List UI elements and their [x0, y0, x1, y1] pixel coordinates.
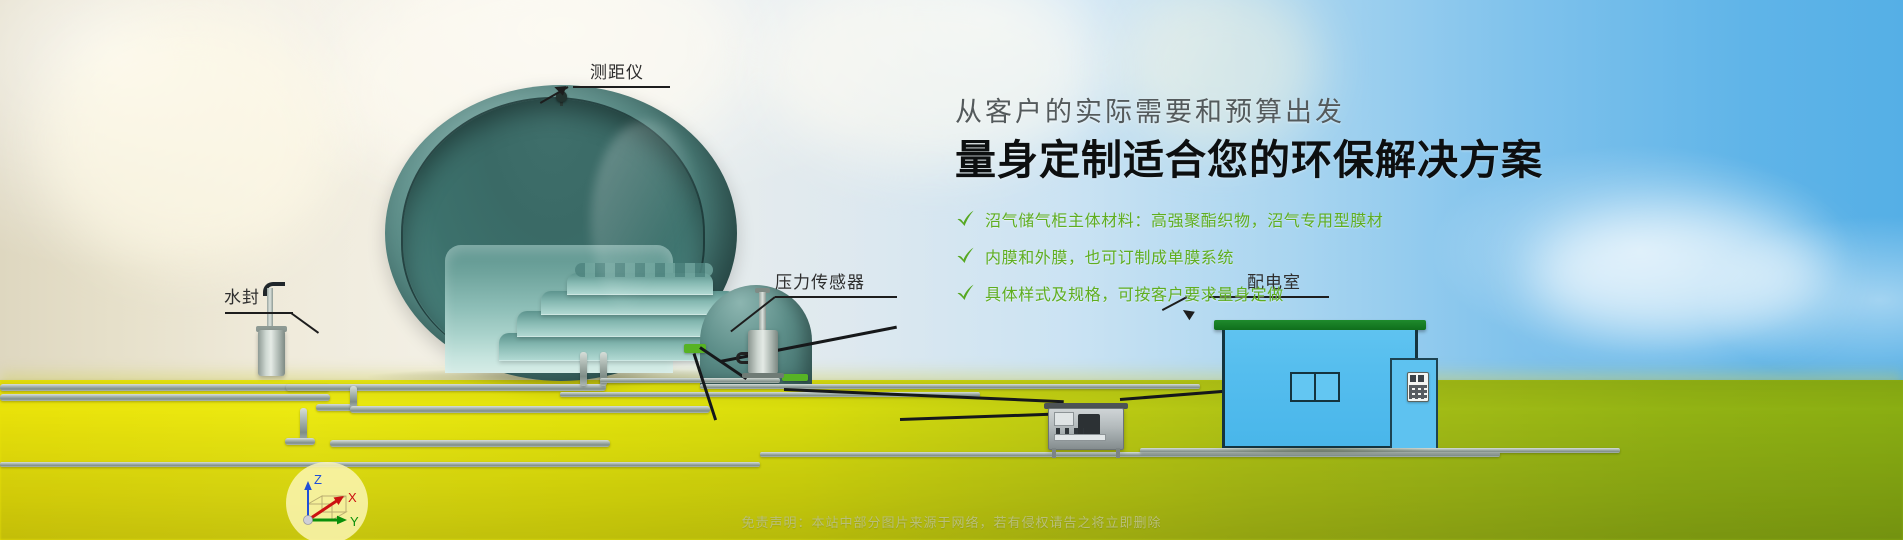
building-roof: [1214, 320, 1426, 330]
hero-banner: 测距仪 水封 压力传感器: [0, 0, 1903, 540]
headline-title: 量身定制适合您的环保解决方案: [955, 136, 1595, 184]
leader-line-water-seal: [225, 312, 293, 314]
vent-pipe: [580, 352, 587, 386]
water-seal-vessel: [258, 330, 285, 376]
machine-base-plate: [1054, 434, 1106, 441]
pressure-sensor-valve: [736, 352, 748, 364]
disclaimer-text: 免责声明：本站中部分图片来源于网络，若有侵权请告之将立即删除: [0, 512, 1903, 531]
control-panel-display: [1410, 375, 1426, 382]
axis-label-x: X: [348, 490, 357, 505]
pipe-run: [0, 394, 330, 401]
check-icon: [955, 209, 975, 229]
headline-subtitle: 从客户的实际需要和预算出发: [955, 96, 1595, 128]
list-item: 具体样式及规格，可按客户要求量身定做: [955, 281, 1595, 305]
gas-holder-dome: [385, 85, 745, 385]
pressure-sensor-base: [742, 373, 784, 378]
water-seal-riser: [267, 288, 273, 328]
marketing-copy-block: 从客户的实际需要和预算出发 量身定制适合您的环保解决方案 沼气储气柜主体材料：高…: [955, 96, 1595, 318]
leader-line-rangefinder: [573, 86, 670, 88]
check-icon: [955, 283, 975, 303]
pressure-sensor-riser: [759, 292, 766, 332]
window-mullion: [1314, 372, 1316, 402]
list-item: 内膜和外膜，也可订制成单膜系统: [955, 244, 1595, 268]
pipe-run: [700, 384, 1200, 389]
pipe-fitting: [782, 374, 808, 381]
pipe-drop: [300, 408, 307, 442]
pipe-run: [600, 378, 780, 383]
leader-line-pressure-sensor: [775, 296, 897, 298]
axis-label-z: Z: [314, 472, 322, 487]
machine-leg: [1052, 448, 1056, 458]
feature-bullet-list: 沼气储气柜主体材料：高强聚酯织物，沼气专用型膜材 内膜和外膜，也可订制成单膜系统…: [955, 207, 1595, 305]
machine-leg: [1116, 448, 1120, 458]
label-water-seal: 水封: [224, 283, 260, 308]
label-pressure-sensor: 压力传感器: [775, 268, 865, 293]
pipe-run-foreground: [0, 462, 760, 467]
pipe-run: [0, 384, 330, 391]
list-item-label: 沼气储气柜主体材料：高强聚酯织物，沼气专用型膜材: [985, 207, 1383, 231]
list-item: 沼气储气柜主体材料：高强聚酯织物，沼气专用型膜材: [955, 207, 1595, 231]
pipe-drop: [350, 386, 357, 408]
list-item-label: 具体样式及规格，可按客户要求量身定做: [985, 281, 1284, 305]
check-icon: [955, 246, 975, 266]
label-rangefinder: 测距仪: [590, 58, 644, 83]
machine-panel: [1054, 412, 1074, 426]
pipe-elbow: [285, 438, 315, 445]
control-panel-buttons: [1409, 385, 1427, 399]
list-item-label: 内膜和外膜，也可订制成单膜系统: [985, 244, 1234, 268]
pressure-sensor-vessel: [748, 330, 778, 374]
pipe-run-lower: [330, 440, 610, 447]
cloud: [40, 10, 340, 270]
pipe-run: [350, 406, 710, 413]
dome-highlight: [591, 121, 701, 321]
pipe-run: [286, 384, 606, 391]
